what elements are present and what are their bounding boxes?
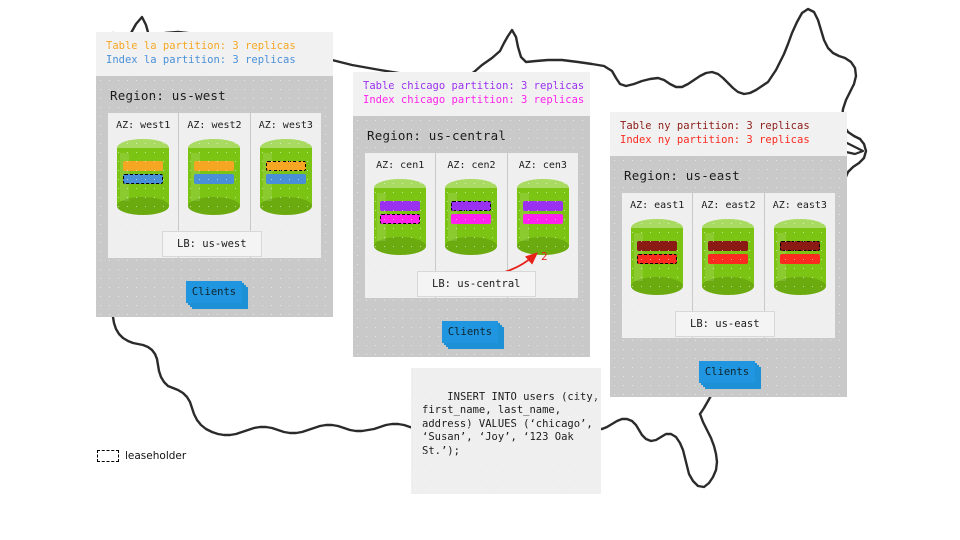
partition-header-us-east: Table ny partition: 3 replicas Index ny … bbox=[610, 112, 847, 156]
sql-text: INSERT INTO users (city, first_name, las… bbox=[422, 391, 599, 457]
replica-bar-table-leaseholder bbox=[266, 161, 306, 171]
region-us-central: Table chicago partition: 3 replicas Inde… bbox=[353, 72, 590, 357]
replica-bar-index-leaseholder bbox=[123, 174, 163, 184]
replica-bar-table-leaseholder bbox=[451, 201, 491, 211]
partition-line-table: Table ny partition: 3 replicas bbox=[620, 120, 837, 134]
replica-bar-index bbox=[708, 254, 748, 264]
node-cylinder[interactable] bbox=[631, 219, 683, 295]
region-title: Region: us-central bbox=[353, 116, 590, 153]
replica-bar-index-leaseholder bbox=[380, 214, 420, 224]
partition-line-index: Index chicago partition: 3 replicas bbox=[363, 94, 580, 108]
legend-leaseholder: leaseholder bbox=[97, 450, 186, 462]
az-label: AZ: east1 bbox=[630, 200, 684, 211]
region-us-east: Table ny partition: 3 replicas Index ny … bbox=[610, 112, 847, 397]
replica-bar-table bbox=[523, 201, 563, 211]
region-title: Region: us-east bbox=[610, 156, 847, 193]
partition-line-table: Table la partition: 3 replicas bbox=[106, 40, 323, 54]
az-label: AZ: cen2 bbox=[447, 160, 495, 171]
replica-bar-index bbox=[194, 174, 234, 184]
diagram-canvas: Table la partition: 3 replicas Index la … bbox=[0, 0, 960, 540]
node-cylinder[interactable] bbox=[188, 139, 240, 215]
replica-bar-table bbox=[194, 161, 234, 171]
partition-header-us-west: Table la partition: 3 replicas Index la … bbox=[96, 32, 333, 76]
replica-bar-table bbox=[380, 201, 420, 211]
az-east3[interactable]: AZ: east3 bbox=[765, 193, 835, 338]
replica-bar-index-leaseholder bbox=[637, 254, 677, 264]
legend-label: leaseholder bbox=[125, 450, 186, 462]
partition-line-index: Index la partition: 3 replicas bbox=[106, 54, 323, 68]
node-cylinder[interactable] bbox=[260, 139, 312, 215]
node-cylinder[interactable] bbox=[117, 139, 169, 215]
region-us-west: Table la partition: 3 replicas Index la … bbox=[96, 32, 333, 317]
az-label: AZ: west3 bbox=[259, 120, 313, 131]
az-label: AZ: cen3 bbox=[519, 160, 567, 171]
clients-us-east[interactable]: Clients bbox=[699, 361, 761, 387]
replica-bar-table bbox=[637, 241, 677, 251]
partition-line-index: Index ny partition: 3 replicas bbox=[620, 134, 837, 148]
az-label: AZ: east2 bbox=[701, 200, 755, 211]
az-label: AZ: west1 bbox=[116, 120, 170, 131]
dashed-rect-icon bbox=[97, 450, 119, 462]
clients-label: Clients bbox=[442, 321, 498, 343]
clients-label: Clients bbox=[699, 361, 755, 383]
az-label: AZ: cen1 bbox=[376, 160, 424, 171]
clients-label: Clients bbox=[186, 281, 242, 303]
replica-bar-table-leaseholder bbox=[780, 241, 820, 251]
sql-statement-box: INSERT INTO users (city, first_name, las… bbox=[411, 368, 601, 494]
clients-us-central[interactable]: Clients bbox=[442, 321, 504, 347]
clients-us-west[interactable]: Clients bbox=[186, 281, 248, 307]
lb-us-central[interactable]: LB: us-central bbox=[417, 271, 536, 297]
replica-bar-index bbox=[523, 214, 563, 224]
node-cylinder[interactable] bbox=[774, 219, 826, 295]
az-label: AZ: west2 bbox=[187, 120, 241, 131]
partition-header-us-central: Table chicago partition: 3 replicas Inde… bbox=[353, 72, 590, 116]
lb-us-west[interactable]: LB: us-west bbox=[162, 231, 262, 257]
region-title: Region: us-west bbox=[96, 76, 333, 113]
node-cylinder[interactable] bbox=[374, 179, 426, 255]
lb-us-east[interactable]: LB: us-east bbox=[675, 311, 775, 337]
replica-bar-index bbox=[451, 214, 491, 224]
replica-bar-table bbox=[708, 241, 748, 251]
partition-line-table: Table chicago partition: 3 replicas bbox=[363, 80, 580, 94]
arrow-label-2: 2 bbox=[541, 250, 548, 263]
replica-bar-index bbox=[266, 174, 306, 184]
az-label: AZ: east3 bbox=[773, 200, 827, 211]
node-cylinder[interactable] bbox=[702, 219, 754, 295]
replica-bar-table bbox=[123, 161, 163, 171]
replica-bar-index bbox=[780, 254, 820, 264]
